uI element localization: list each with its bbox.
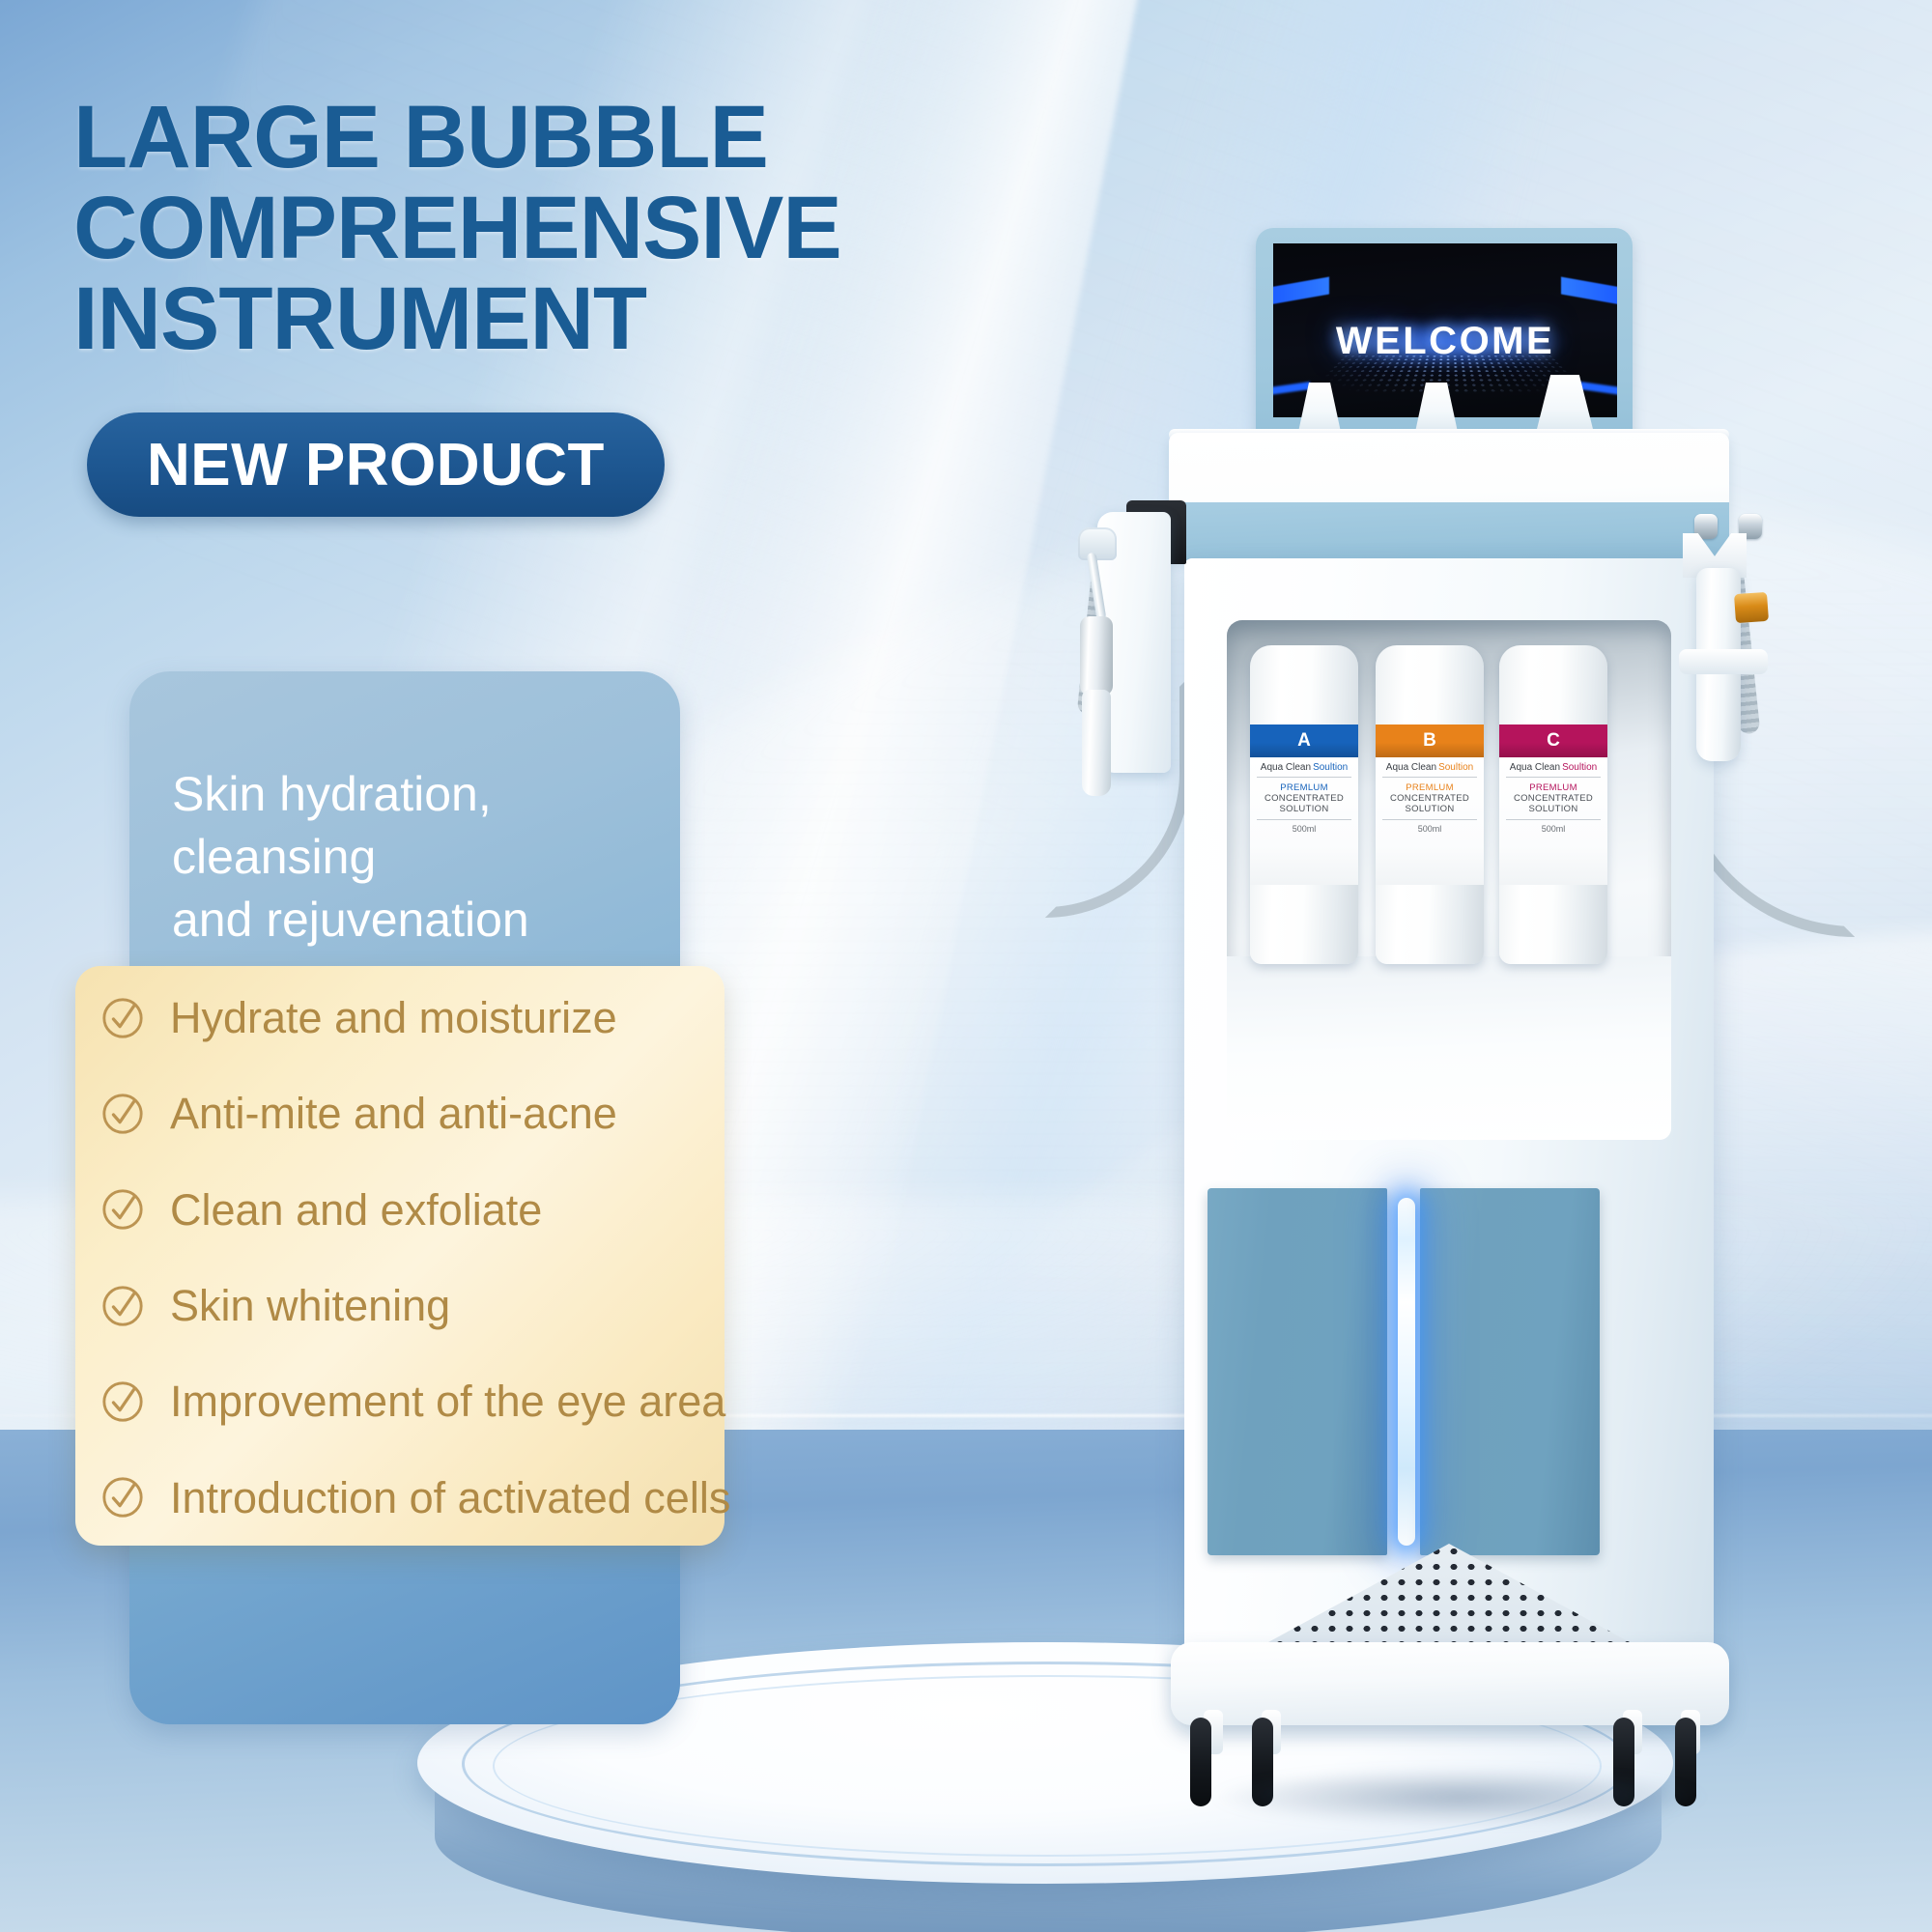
bottle-brand-suffix: Soultion bbox=[1438, 762, 1473, 773]
check-circle-icon bbox=[100, 1284, 145, 1328]
machine-base bbox=[1171, 1642, 1729, 1725]
feature-item-4: Skin whitening bbox=[100, 1283, 703, 1328]
handpiece-right-gold-tip bbox=[1734, 592, 1769, 623]
bottle-brand-suffix: Soultion bbox=[1313, 762, 1348, 773]
bottle-solution-line: SOLUTION bbox=[1406, 804, 1455, 814]
handpiece-left-chrome-body bbox=[1080, 616, 1113, 696]
bottle-premium-line: PREMLUM bbox=[1280, 782, 1328, 793]
bottle-brand: Aqua CleanSoultion bbox=[1386, 762, 1473, 773]
screen-flare-right bbox=[1561, 277, 1617, 305]
bottle-concentrated-line: CONCENTRATED bbox=[1390, 793, 1469, 804]
bottle-band: A bbox=[1250, 724, 1358, 757]
handpiece-left-tip bbox=[1078, 527, 1117, 560]
check-circle-icon bbox=[100, 996, 145, 1040]
feature-item-5: Improvement of the eye area bbox=[100, 1378, 703, 1424]
bottle-volume: 500ml bbox=[1293, 824, 1317, 834]
subheading-line-1: Skin hydration, cleansing bbox=[172, 767, 492, 884]
subheading-text: Skin hydration, cleansing and rejuvenati… bbox=[172, 763, 674, 952]
solution-bottle-c[interactable]: C Aqua CleanSoultion PREMLUM CONCENTRATE… bbox=[1499, 645, 1607, 964]
bottle-brand-suffix: Soultion bbox=[1562, 762, 1597, 773]
feature-item-label: Skin whitening bbox=[170, 1283, 450, 1328]
machine-floor-shadow bbox=[1207, 1768, 1710, 1826]
bottle-recess-floor bbox=[1227, 956, 1671, 1140]
cabinet-door-left[interactable] bbox=[1207, 1188, 1387, 1555]
bottle-solution-line: SOLUTION bbox=[1529, 804, 1578, 814]
bottle-band: B bbox=[1376, 724, 1484, 757]
solution-bottle-a[interactable]: A Aqua CleanSoultion PREMLUM CONCENTRATE… bbox=[1250, 645, 1358, 964]
feature-item-label: Introduction of activated cells bbox=[170, 1475, 730, 1520]
feature-item-label: Improvement of the eye area bbox=[170, 1378, 725, 1424]
page-title: LARGE BUBBLE COMPREHENSIVE INSTRUMENT bbox=[73, 93, 1320, 364]
bottle-divider-bottom bbox=[1382, 819, 1478, 820]
new-product-badge: NEW PRODUCT bbox=[87, 412, 665, 517]
bottle-label: Aqua CleanSoultion PREMLUM CONCENTRATED … bbox=[1376, 757, 1484, 885]
feature-item-label: Clean and exfoliate bbox=[170, 1187, 542, 1233]
screen-welcome-text: WELCOME bbox=[1273, 320, 1617, 363]
cabinet-door-right[interactable] bbox=[1420, 1188, 1600, 1555]
check-circle-icon bbox=[100, 1379, 145, 1424]
screen-flare-bottom-left bbox=[1273, 382, 1310, 395]
feature-item-label: Hydrate and moisturize bbox=[170, 995, 617, 1040]
handpiece-left[interactable] bbox=[1074, 527, 1119, 779]
beauty-machine: WELCOME A Aqua CleanSoultion PREMLUM CON… bbox=[1063, 222, 1855, 1855]
headline-line-1: LARGE BUBBLE COMPREHENSIVE bbox=[73, 88, 841, 277]
headline-line-2: INSTRUMENT bbox=[73, 274, 1320, 365]
check-circle-icon bbox=[100, 1092, 145, 1136]
bottle-divider-top bbox=[1257, 777, 1352, 778]
subheading-line-2: and rejuvenation bbox=[172, 889, 674, 952]
handpiece-left-neck bbox=[1087, 553, 1107, 621]
bottle-divider-bottom bbox=[1506, 819, 1602, 820]
feature-list: Hydrate and moisturize Anti-mite and ant… bbox=[75, 966, 724, 1546]
bottle-concentrated-line: CONCENTRATED bbox=[1264, 793, 1344, 804]
bottle-divider-top bbox=[1382, 777, 1478, 778]
handpiece-right-holder bbox=[1679, 649, 1768, 674]
bottle-divider-top bbox=[1506, 777, 1602, 778]
shelf-blue-band bbox=[1169, 502, 1729, 560]
check-circle-icon bbox=[100, 1187, 145, 1232]
bottle-premium-line: PREMLUM bbox=[1406, 782, 1454, 793]
bottle-volume: 500ml bbox=[1418, 824, 1442, 834]
feature-item-6: Introduction of activated cells bbox=[100, 1475, 703, 1520]
check-circle-icon bbox=[100, 1475, 145, 1520]
bottle-band: C bbox=[1499, 724, 1607, 757]
solution-bottle-b[interactable]: B Aqua CleanSoultion PREMLUM CONCENTRATE… bbox=[1376, 645, 1484, 964]
bottle-label: Aqua CleanSoultion PREMLUM CONCENTRATED … bbox=[1499, 757, 1607, 885]
bottle-volume: 500ml bbox=[1542, 824, 1566, 834]
bottle-brand: Aqua CleanSoultion bbox=[1510, 762, 1597, 773]
bottle-concentrated-line: CONCENTRATED bbox=[1514, 793, 1593, 804]
feature-item-1: Hydrate and moisturize bbox=[100, 995, 703, 1040]
bottle-label: Aqua CleanSoultion PREMLUM CONCENTRATED … bbox=[1250, 757, 1358, 885]
handpiece-left-grip bbox=[1082, 690, 1111, 796]
new-product-badge-label: NEW PRODUCT bbox=[147, 431, 605, 499]
bottle-brand: Aqua CleanSoultion bbox=[1261, 762, 1348, 773]
led-indicator-strip bbox=[1398, 1198, 1415, 1546]
bottle-divider-bottom bbox=[1257, 819, 1352, 820]
handpiece-right[interactable] bbox=[1677, 514, 1793, 804]
feature-item-3: Clean and exfoliate bbox=[100, 1187, 703, 1233]
bottle-solution-line: SOLUTION bbox=[1280, 804, 1329, 814]
feature-item-label: Anti-mite and anti-acne bbox=[170, 1091, 617, 1136]
feature-item-2: Anti-mite and anti-acne bbox=[100, 1091, 703, 1136]
bottle-premium-line: PREMLUM bbox=[1529, 782, 1577, 793]
